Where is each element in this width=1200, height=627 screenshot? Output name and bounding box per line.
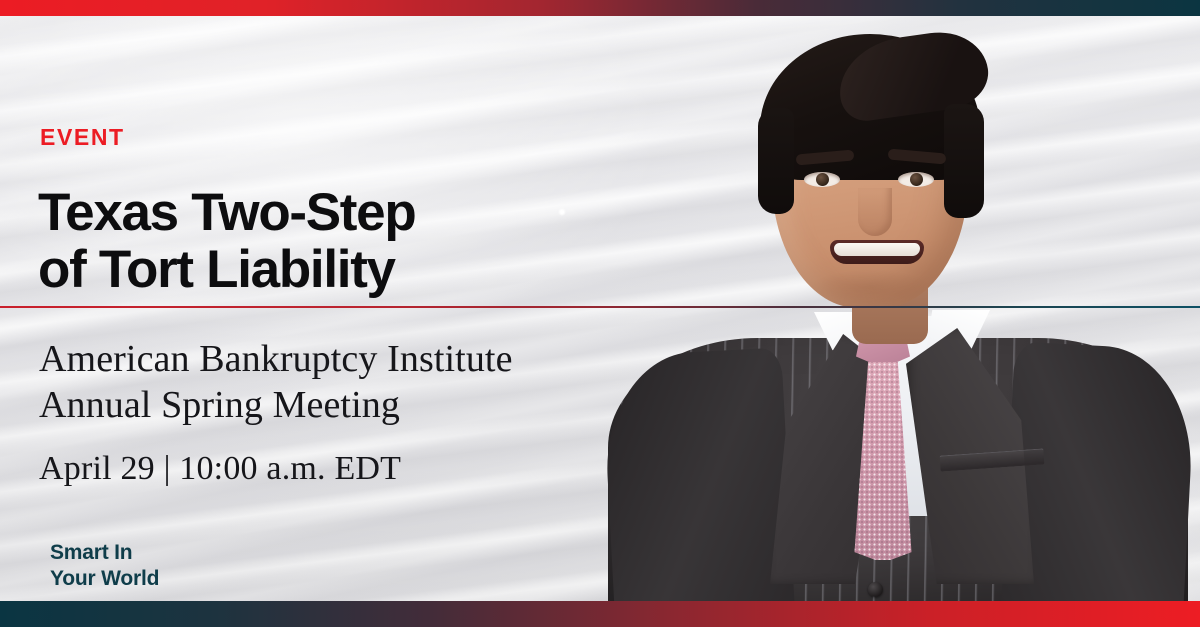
pupil-right [910,173,923,186]
event-eyebrow-label: EVENT [40,126,125,149]
hair-side-right [944,104,984,218]
event-promo-banner: EVENT Texas Two-Step of Tort Liability A… [0,0,1200,627]
section-divider [0,306,1200,308]
page-title-line-2: of Tort Liability [38,241,658,298]
brand-tagline-line-1: Smart In [50,540,159,566]
chin-shadow [812,270,930,304]
event-subtitle-line-2: Annual Spring Meeting [39,382,659,428]
mouth [830,240,924,264]
suit-button [868,582,883,597]
teeth [834,243,920,256]
page-title-line-1: Texas Two-Step [38,184,658,241]
hair-side-left [758,108,794,214]
event-datetime: April 29 | 10:00 a.m. EDT [39,449,659,490]
nose [858,188,892,236]
top-accent-bar [0,0,1200,16]
speaker-portrait [600,16,1200,601]
brand-tagline-line-2: Your World [50,566,159,592]
event-subtitle-line-1: American Bankruptcy Institute [39,336,659,382]
brand-tagline: Smart In Your World [50,540,159,591]
bottom-accent-bar [0,601,1200,627]
text-block: EVENT Texas Two-Step of Tort Liability A… [38,16,678,601]
event-subtitle: American Bankruptcy Institute Annual Spr… [39,336,659,429]
pupil-left [816,173,829,186]
page-title: Texas Two-Step of Tort Liability [38,184,658,298]
